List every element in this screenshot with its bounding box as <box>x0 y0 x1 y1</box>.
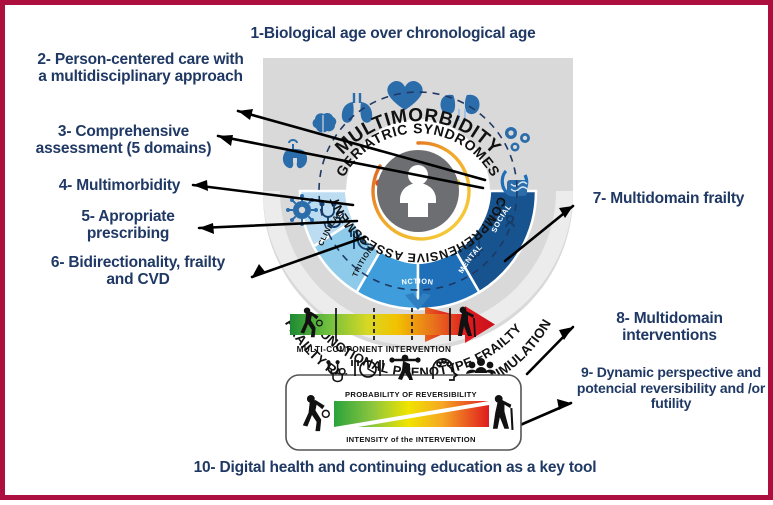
callout-8: 8- Multidomain interventions <box>577 310 762 345</box>
intervention-bar-caption: MULTI-COMPONENT INTERVENTION <box>297 345 452 354</box>
reversibility-bottom-caption: INTENSITY of the INTERVENTION <box>346 435 476 444</box>
callout-2: 2- Person-centered care with a multidisc… <box>33 51 248 86</box>
callout-5: 5- Apropriate prescribing <box>43 208 213 243</box>
poster-stage: FUNCTIONAL PHENOTYPE FRAILTY FRAILTY REL… <box>5 5 768 495</box>
reversibility-top-caption: PROBABILITY OF REVERSIBILITY <box>345 390 477 399</box>
callout-6: 6- Bidirectionality, frailty and CVD <box>43 254 233 289</box>
callout-9: 9- Dynamic perspective and potencial rev… <box>573 365 769 412</box>
callout-10: 10- Digital health and continuing educat… <box>135 459 655 476</box>
callout-7: 7- Multidomain frailty <box>581 190 756 207</box>
callout-1: 1-Biological age over chronological age <box>203 25 583 42</box>
callout-4: 4- Multimorbidity <box>27 177 212 194</box>
callout-3: 3- Comprehensive assessment (5 domains) <box>21 123 226 158</box>
poster-frame: FUNCTIONAL PHENOTYPE FRAILTY FRAILTY REL… <box>0 0 773 500</box>
reversibility-gradient <box>334 401 489 431</box>
